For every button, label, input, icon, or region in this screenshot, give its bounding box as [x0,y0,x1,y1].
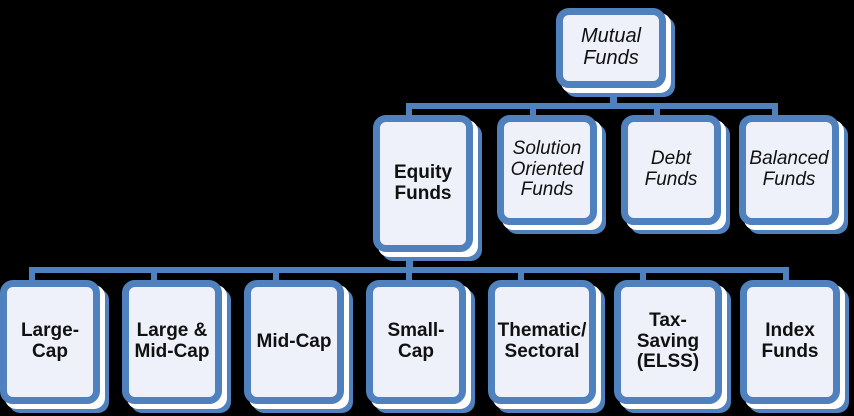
node-small-cap[interactable]: Small-Cap [366,280,474,412]
org-chart-canvas: Mutual Funds Equity Funds Solution Orien… [0,0,854,416]
node-label-mutual-funds: Mutual Funds [563,26,659,69]
node-label-index-funds: Index Funds [747,321,833,362]
node-thematic-sectoral[interactable]: Thematic/ Sectoral [488,280,604,412]
node-front-layer: Debt Funds [621,115,721,225]
node-front-layer: Index Funds [740,280,840,404]
node-front-layer: Mid-Cap [244,280,344,404]
node-front-layer: Tax-Saving (ELSS) [614,280,722,404]
node-label-large-cap: Large-Cap [7,321,93,362]
node-front-layer: Small-Cap [366,280,466,404]
node-equity-funds[interactable]: Equity Funds [373,115,481,260]
node-index-funds[interactable]: Index Funds [740,280,848,412]
node-mid-cap[interactable]: Mid-Cap [244,280,352,412]
node-label-solution-oriented-funds: Solution Oriented Funds [504,139,590,201]
node-solution-oriented-funds[interactable]: Solution Oriented Funds [497,115,605,233]
node-front-layer: Thematic/ Sectoral [488,280,596,404]
node-label-equity-funds: Equity Funds [380,163,466,204]
node-front-layer: Mutual Funds [556,8,666,88]
node-large-and-mid-cap[interactable]: Large & Mid-Cap [122,280,230,412]
node-label-thematic-sectoral: Thematic/ Sectoral [494,321,591,362]
node-front-layer: Solution Oriented Funds [497,115,597,225]
node-debt-funds[interactable]: Debt Funds [621,115,729,233]
node-label-balanced-funds: Balanced Funds [745,149,832,190]
node-label-large-and-mid-cap: Large & Mid-Cap [129,321,215,362]
node-mutual-funds[interactable]: Mutual Funds [556,8,674,96]
node-label-mid-cap: Mid-Cap [251,332,337,353]
node-front-layer: Large & Mid-Cap [122,280,222,404]
node-front-layer: Large-Cap [0,280,100,404]
node-front-layer: Balanced Funds [739,115,839,225]
node-label-debt-funds: Debt Funds [628,149,714,190]
connector-level2-bus [406,103,778,109]
node-large-cap[interactable]: Large-Cap [0,280,108,412]
node-label-tax-saving-elss: Tax-Saving (ELSS) [621,311,715,373]
node-front-layer: Equity Funds [373,115,473,252]
node-tax-saving-elss[interactable]: Tax-Saving (ELSS) [614,280,730,412]
node-balanced-funds[interactable]: Balanced Funds [739,115,847,233]
node-label-small-cap: Small-Cap [373,321,459,362]
